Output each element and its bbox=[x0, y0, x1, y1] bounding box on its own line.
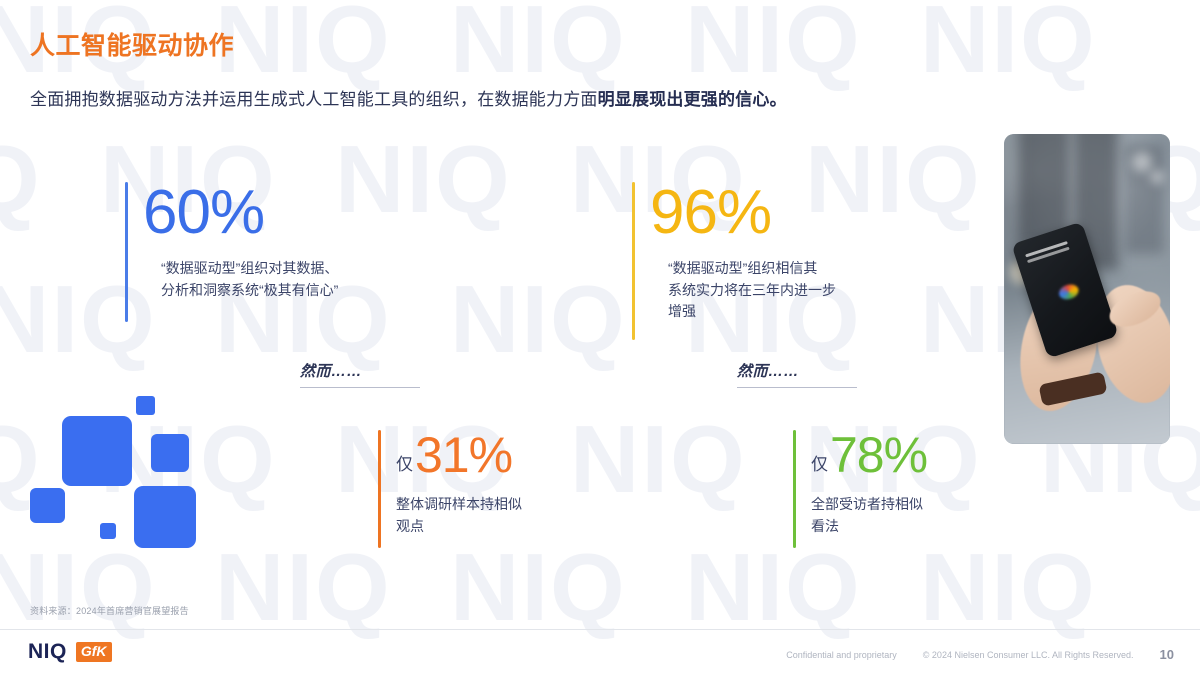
stat-value-row: 仅 31% bbox=[396, 430, 696, 480]
square-shape bbox=[30, 488, 65, 523]
brand-logo: NIQ GfK bbox=[28, 640, 112, 664]
page-title: 人工智能驱动协作 bbox=[30, 26, 234, 62]
watermark-text: NIQ bbox=[450, 0, 627, 88]
stat-value: 96% bbox=[650, 182, 771, 244]
stat-description: 整体调研样本持相似 观点 bbox=[396, 494, 696, 537]
stat-value-row: 60% bbox=[143, 182, 463, 244]
confidential-notice: Confidential and proprietary bbox=[786, 650, 897, 660]
accent-bar bbox=[793, 430, 796, 548]
photo-hands-holding-smartphone bbox=[1004, 134, 1170, 444]
photo-phone-screen-text bbox=[1025, 241, 1068, 257]
footer-meta: Confidential and proprietary © 2024 Niel… bbox=[786, 647, 1174, 662]
square-shape bbox=[62, 416, 132, 486]
page-subtitle: 全面拥抱数据驱动方法并运用生成式人工智能工具的组织，在数据能力方面明显展现出更强… bbox=[30, 85, 787, 110]
source-note: 资料来源：2024年首席营销官展望报告 bbox=[30, 604, 189, 617]
watermark-text: NIQ bbox=[920, 0, 1097, 88]
stat-value: 60% bbox=[143, 182, 264, 244]
gfk-logo-badge: GfK bbox=[76, 642, 112, 662]
accent-bar bbox=[632, 182, 635, 340]
watermark-text: NIQ bbox=[215, 540, 392, 636]
watermark-text: NIQ bbox=[0, 132, 42, 228]
subtitle-emphasis: 明显展现出更强的信心。 bbox=[598, 90, 787, 109]
divider bbox=[300, 387, 420, 388]
square-shape bbox=[100, 523, 116, 539]
square-shape bbox=[134, 486, 196, 548]
stat-value-row: 96% bbox=[650, 182, 980, 244]
however-text: 然而…… bbox=[737, 360, 857, 387]
watermark-text: NIQ bbox=[685, 0, 862, 88]
square-shape bbox=[136, 396, 155, 415]
stat-card-sample: 仅 31% 整体调研样本持相似 观点 bbox=[378, 430, 696, 548]
photo-assistant-indicator bbox=[1057, 282, 1080, 301]
stat-description: “数据驱动型”组织对其数据、 分析和洞察系统“极其有信心” bbox=[161, 258, 463, 301]
stat-card-confidence: 60% “数据驱动型”组织对其数据、 分析和洞察系统“极其有信心” bbox=[125, 182, 463, 322]
watermark-text: NIQ bbox=[450, 540, 627, 636]
however-label-left: 然而…… bbox=[300, 360, 420, 388]
stat-description: “数据驱动型”组织相信其 系统实力将在三年内进一步 增强 bbox=[668, 258, 980, 323]
however-text: 然而…… bbox=[300, 360, 420, 387]
stat-card-respondents: 仅 78% 全部受访者持相似 看法 bbox=[793, 430, 1111, 548]
accent-bar bbox=[378, 430, 381, 548]
watermark-text: NIQ bbox=[450, 272, 627, 368]
slide: NIQ NIQ NIQ NIQ NIQ NIQ NIQ NIQ NIQ NIQ … bbox=[0, 0, 1200, 675]
page-number: 10 bbox=[1160, 647, 1174, 662]
watermark-text: NIQ bbox=[920, 540, 1097, 636]
photo-bokeh bbox=[1150, 170, 1164, 184]
watermark-text: NIQ bbox=[215, 0, 392, 88]
stat-value: 31% bbox=[415, 430, 512, 480]
niq-logo-text: NIQ bbox=[28, 640, 67, 664]
stat-prefix: 仅 bbox=[396, 456, 413, 473]
stat-description: 全部受访者持相似 看法 bbox=[811, 494, 1111, 537]
however-label-right: 然而…… bbox=[737, 360, 857, 388]
footer-divider bbox=[0, 629, 1200, 630]
copyright-notice: © 2024 Nielsen Consumer LLC. All Rights … bbox=[923, 650, 1134, 660]
decorative-squares-graphic bbox=[18, 392, 194, 568]
subtitle-plain: 全面拥抱数据驱动方法并运用生成式人工智能工具的组织，在数据能力方面 bbox=[30, 90, 598, 109]
divider bbox=[737, 387, 857, 388]
stat-prefix: 仅 bbox=[811, 456, 828, 473]
stat-card-growth: 96% “数据驱动型”组织相信其 系统实力将在三年内进一步 增强 bbox=[632, 182, 980, 340]
square-shape bbox=[151, 434, 189, 472]
photo-bokeh bbox=[1132, 152, 1152, 172]
accent-bar bbox=[125, 182, 128, 322]
stat-value: 78% bbox=[830, 430, 927, 480]
watermark-text: NIQ bbox=[685, 540, 862, 636]
